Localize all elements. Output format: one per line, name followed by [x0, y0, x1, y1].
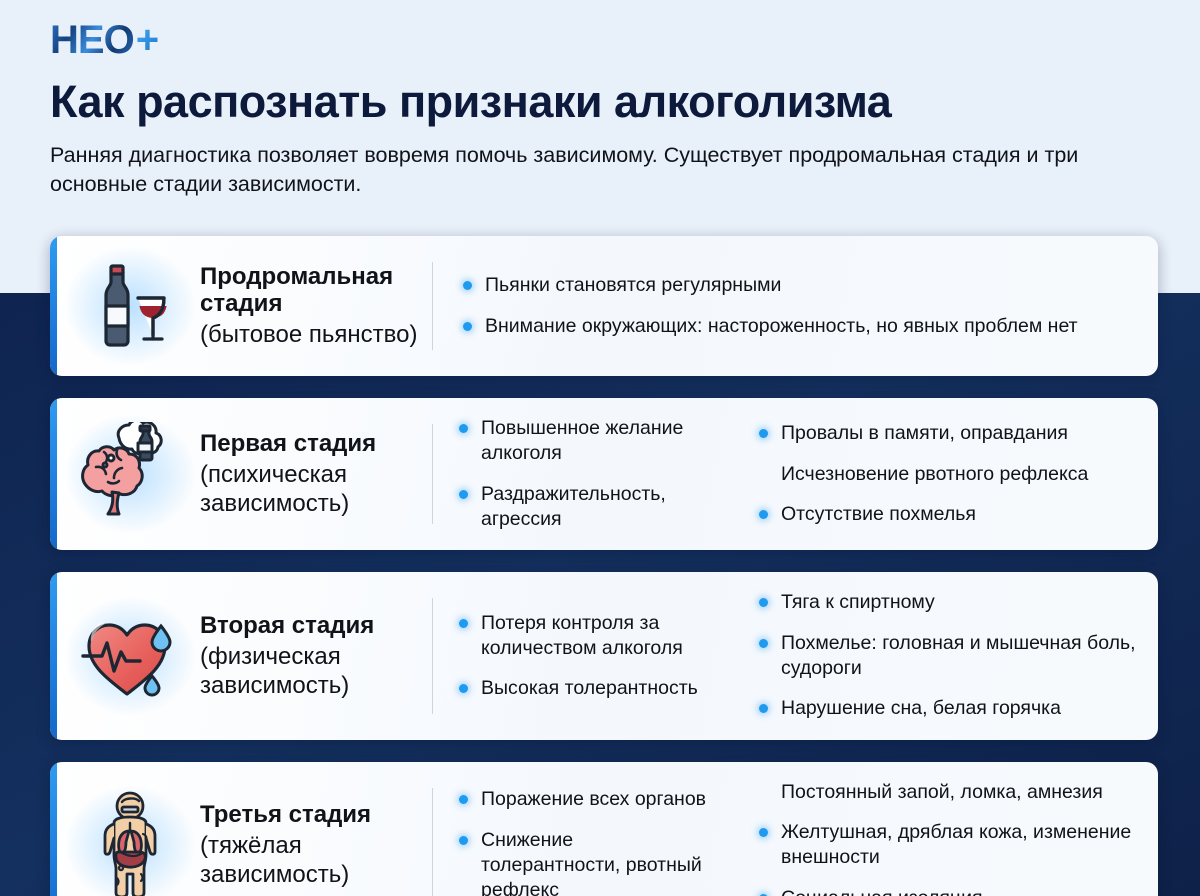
stage-title-sub: (бытовое пьянство)	[200, 320, 418, 349]
bullet-column-single: Пьянки становятся регулярнымиВнимание ок…	[433, 236, 1158, 376]
bullet-item: Исчезновение рвотного рефлекса	[759, 462, 1138, 487]
bullet-item: Потеря контроля за количеством алкоголя	[459, 611, 717, 662]
page-title: Как распознать признаки алкоголизма	[50, 78, 1150, 127]
brand-logo-text: НЕО	[50, 20, 134, 60]
stage-title: Первая стадия(психическая зависимость)	[200, 398, 432, 550]
bullet-item: Постоянный запой, ломка, амнезия	[759, 780, 1138, 805]
bullet-column-left: Поражение всех органовСнижение толерантн…	[433, 762, 733, 896]
stage-title-strong: Первая стадия	[200, 430, 418, 458]
page-subtitle: Ранняя диагностика позволяет вовремя пом…	[50, 141, 1080, 200]
bullet-item: Социальная изоляция	[759, 886, 1138, 896]
heart-with-pulse-icon	[50, 572, 200, 739]
bullet-item: Раздражительность, агрессия	[459, 482, 717, 533]
infographic-page: НЕО + Как распознать признаки алкоголизм…	[0, 0, 1200, 896]
bullet-column-right: Тяга к спиртномуПохмелье: головная и мыш…	[733, 572, 1158, 739]
bullet-item: Нарушение сна, белая горячка	[759, 696, 1138, 721]
bullet-item: Желтушная, дряблая кожа, изменение внешн…	[759, 820, 1138, 871]
stage-card[interactable]: Продромальная стадия(бытовое пьянство)Пь…	[50, 236, 1158, 376]
wine-bottle-and-glass-icon	[50, 236, 200, 376]
bullet-item: Внимание окружающих: настороженность, но…	[463, 314, 1142, 339]
bullet-item: Отсутствие похмелья	[759, 502, 1138, 527]
bullet-item: Повышенное желание алкоголя	[459, 416, 717, 467]
bullet-item: Поражение всех органов	[459, 787, 717, 812]
stage-card[interactable]: Третья стадия(тяжёлая зависимость)Пораже…	[50, 762, 1158, 896]
bullet-column-left: Повышенное желание алкоголяРаздражительн…	[433, 398, 733, 550]
stage-title: Третья стадия(тяжёлая зависимость)	[200, 762, 432, 896]
stage-title-strong: Третья стадия	[200, 801, 418, 829]
bullet-item: Тяга к спиртному	[759, 590, 1138, 615]
bullet-item: Провалы в памяти, оправдания	[759, 421, 1138, 446]
bullet-item: Высокая толерантность	[459, 676, 717, 701]
bullet-column-right: Провалы в памяти, оправданияИсчезновение…	[733, 398, 1158, 550]
page-header: НЕО + Как распознать признаки алкоголизм…	[0, 0, 1200, 200]
brand-logo[interactable]: НЕО +	[50, 18, 1150, 62]
stage-title-sub: (психическая зависимость)	[200, 460, 418, 519]
stage-title-sub: (физическая зависимость)	[200, 642, 418, 701]
bullet-column-left: Потеря контроля за количеством алкоголяВ…	[433, 572, 733, 739]
stage-title-strong: Вторая стадия	[200, 612, 418, 640]
stage-title: Продромальная стадия(бытовое пьянство)	[200, 236, 432, 376]
stage-card[interactable]: Вторая стадия(физическая зависимость)Пот…	[50, 572, 1158, 739]
stage-card[interactable]: Первая стадия(психическая зависимость)По…	[50, 398, 1158, 550]
brand-logo-plus-icon: +	[136, 20, 159, 60]
stage-title-strong: Продромальная стадия	[200, 263, 418, 318]
bullet-item: Пьянки становятся регулярными	[463, 273, 1142, 298]
brain-craving-alcohol-icon	[50, 398, 200, 550]
bullet-column-right: Постоянный запой, ломка, амнезияЖелтушна…	[733, 762, 1158, 896]
stage-card-list: Продромальная стадия(бытовое пьянство)Пь…	[50, 236, 1158, 896]
bullet-item: Снижение толерантности, рвотный рефлекс	[459, 828, 717, 896]
stage-title-sub: (тяжёлая зависимость)	[200, 831, 418, 890]
human-body-organs-icon	[50, 762, 200, 896]
bullet-item: Похмелье: головная и мышечная боль, судо…	[759, 631, 1138, 682]
stage-title: Вторая стадия(физическая зависимость)	[200, 572, 432, 739]
